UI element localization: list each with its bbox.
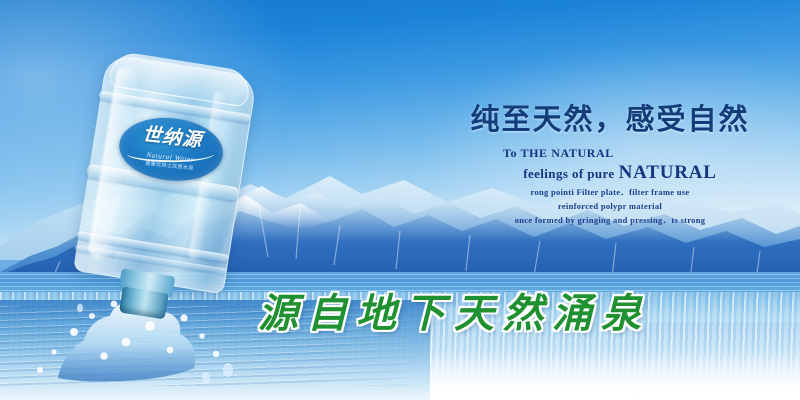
subhead-line-1: To THE NATURAL xyxy=(455,146,765,161)
marketing-copy-block: 纯至天然，感受自然 To THE NATURAL feelings of pur… xyxy=(455,100,765,226)
subhead-line-2-small: feelings of pure xyxy=(523,166,614,181)
slogan-chinese: 源自地下天然涌泉 xyxy=(258,288,650,340)
fine-print-line-1: rong pointi Filter plate．filter frame us… xyxy=(455,187,765,198)
subhead-line-2: feelings of pure NATURAL xyxy=(455,162,765,184)
headline-chinese: 纯至天然，感受自然 xyxy=(455,100,765,138)
subhead-line-2-big: NATURAL xyxy=(619,162,717,183)
advertisement-banner: 世纳源 Natural Water 健康饮用之优质水源 纯至天然，感受自然 To… xyxy=(0,0,800,400)
fine-print-line-2: reinforced polypr material xyxy=(455,201,765,212)
fine-print-line-3: once formed by gringing and pressing．ts … xyxy=(455,215,765,226)
